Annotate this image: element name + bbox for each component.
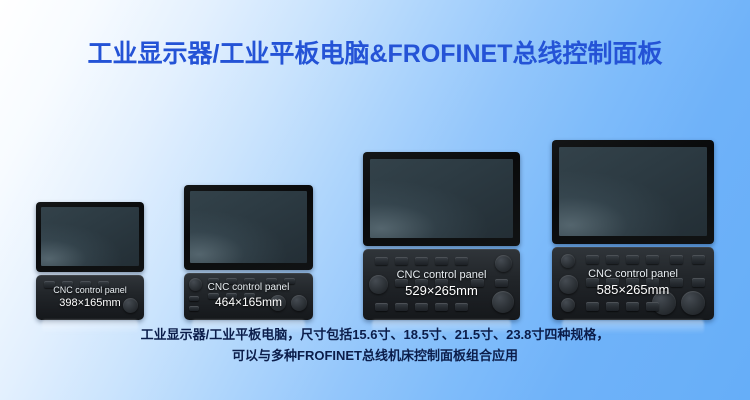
button-icon[interactable] — [586, 278, 599, 287]
button-icon[interactable] — [606, 278, 619, 287]
button-icon[interactable] — [646, 302, 659, 311]
knob-icon[interactable] — [495, 255, 512, 272]
button-icon[interactable] — [244, 278, 255, 284]
display-screen — [370, 159, 513, 238]
control-panel[interactable]: CNC control panel 585×265mm — [552, 247, 714, 320]
button-icon[interactable] — [189, 306, 199, 311]
device-23-8-inch[interactable]: CNC control panel 585×265mm — [552, 140, 714, 320]
button-icon[interactable] — [244, 293, 255, 299]
button-icon[interactable] — [189, 296, 199, 301]
control-panel[interactable]: CNC control panel 398×165mm — [36, 275, 144, 320]
promo-banner: 工业显示器/工业平板电脑&FROFINET总线控制面板 CNC control … — [0, 0, 750, 400]
button-icon[interactable] — [62, 281, 73, 288]
button-icon[interactable] — [98, 281, 109, 288]
button-icon[interactable] — [471, 279, 484, 287]
button-icon[interactable] — [80, 281, 91, 288]
knob-icon[interactable] — [270, 295, 286, 311]
button-icon[interactable] — [208, 293, 219, 299]
caption: 工业显示器/工业平板电脑，尺寸包括15.6寸、18.5寸、21.5寸、23.8寸… — [0, 324, 750, 366]
button-icon[interactable] — [586, 302, 599, 311]
control-panel[interactable]: CNC control panel 464×165mm — [184, 273, 313, 320]
button-icon[interactable] — [415, 303, 428, 311]
control-panel[interactable]: CNC control panel 529×265mm — [363, 249, 520, 320]
button-icon[interactable] — [646, 255, 659, 264]
knob-icon[interactable] — [123, 298, 138, 313]
device-21-5-inch[interactable]: CNC control panel 529×265mm — [363, 152, 520, 320]
caption-line-2: 可以与多种FROFINET总线机床控制面板组合应用 — [0, 345, 750, 366]
button-icon[interactable] — [670, 278, 683, 287]
button-icon[interactable] — [375, 303, 388, 311]
button-icon[interactable] — [455, 303, 468, 311]
device-18-5-inch[interactable]: CNC control panel 464×165mm — [184, 185, 313, 320]
display-screen — [41, 207, 139, 266]
knob-icon[interactable] — [369, 275, 388, 294]
button-icon[interactable] — [626, 255, 639, 264]
caption-line-1: 工业显示器/工业平板电脑，尺寸包括15.6寸、18.5寸、21.5寸、23.8寸… — [0, 324, 750, 345]
display-screen — [559, 147, 707, 236]
button-icon[interactable] — [284, 278, 295, 284]
button-icon[interactable] — [692, 278, 705, 287]
screen-bezel — [184, 185, 313, 270]
display-screen — [190, 191, 307, 263]
device-lineup: CNC control panel 398×165mm — [0, 0, 750, 320]
button-icon[interactable] — [395, 303, 408, 311]
knob-icon[interactable] — [559, 275, 578, 294]
button-icon[interactable] — [208, 278, 219, 284]
button-icon[interactable] — [586, 255, 599, 264]
screen-bezel — [363, 152, 520, 246]
button-icon[interactable] — [395, 279, 408, 287]
button-icon[interactable] — [435, 257, 448, 265]
knob-icon[interactable] — [492, 291, 514, 313]
button-icon[interactable] — [670, 255, 683, 264]
button-icon[interactable] — [415, 257, 428, 265]
panel-size: 398×165mm — [59, 296, 120, 310]
device-15-6-inch[interactable]: CNC control panel 398×165mm — [36, 202, 144, 320]
button-icon[interactable] — [435, 303, 448, 311]
button-icon[interactable] — [692, 255, 705, 264]
button-icon[interactable] — [375, 257, 388, 265]
knob-icon[interactable] — [291, 295, 307, 311]
button-icon[interactable] — [226, 293, 237, 299]
knob-icon[interactable] — [189, 278, 202, 291]
screen-bezel — [552, 140, 714, 244]
button-icon[interactable] — [226, 278, 237, 284]
button-icon[interactable] — [44, 281, 55, 288]
screen-bezel — [36, 202, 144, 272]
button-icon[interactable] — [395, 257, 408, 265]
knob-icon[interactable] — [561, 254, 575, 268]
knob-icon[interactable] — [681, 291, 705, 315]
button-icon[interactable] — [606, 302, 619, 311]
button-icon[interactable] — [435, 279, 448, 287]
button-icon[interactable] — [415, 279, 428, 287]
button-icon[interactable] — [606, 255, 619, 264]
button-icon[interactable] — [626, 302, 639, 311]
knob-icon[interactable] — [561, 298, 575, 312]
button-icon[interactable] — [455, 257, 468, 265]
button-icon[interactable] — [495, 279, 508, 287]
button-icon[interactable] — [646, 278, 659, 287]
button-icon[interactable] — [626, 278, 639, 287]
button-icon[interactable] — [266, 278, 277, 284]
